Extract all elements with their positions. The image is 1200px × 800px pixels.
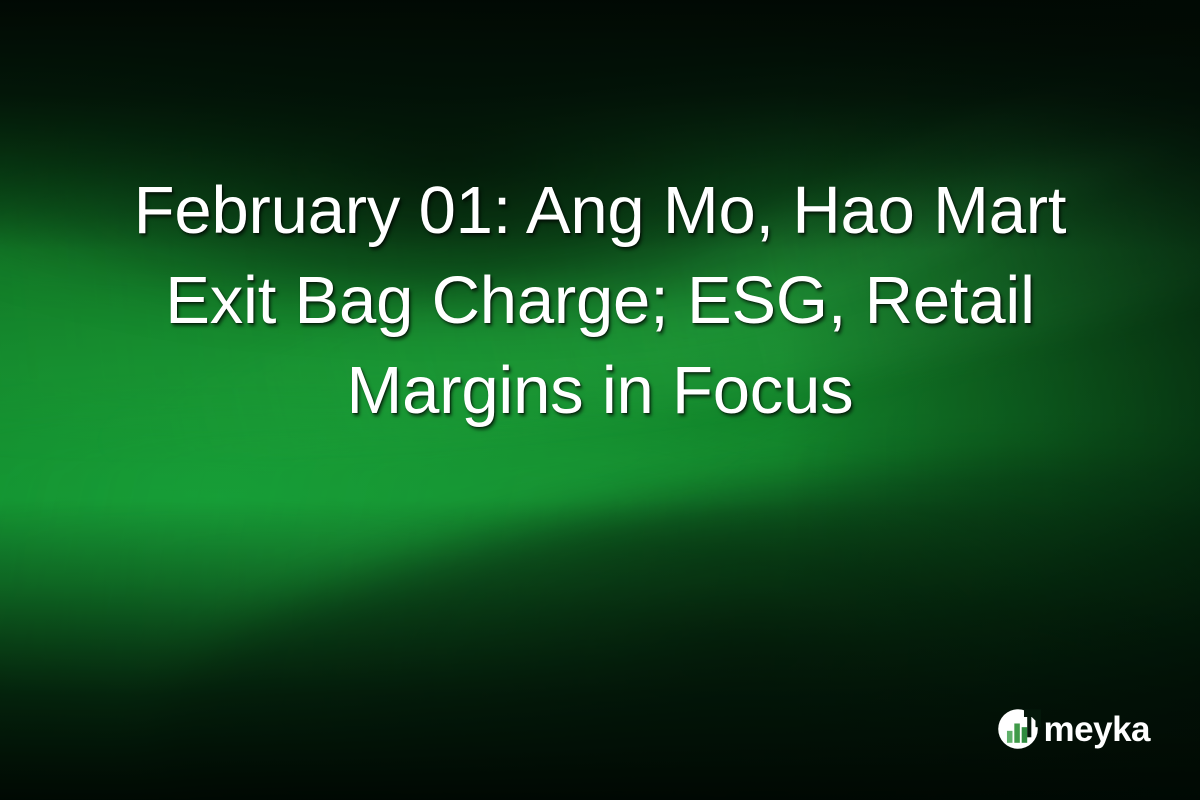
- brand-name: meyka: [1044, 712, 1150, 747]
- news-card: February 01: Ang Mo, Hao Mart Exit Bag C…: [0, 0, 1200, 800]
- headline-container: February 01: Ang Mo, Hao Mart Exit Bag C…: [0, 166, 1200, 436]
- brand-logo: meyka: [995, 706, 1150, 752]
- page-title: February 01: Ang Mo, Hao Mart Exit Bag C…: [100, 166, 1100, 436]
- meyka-bar-chart-circle-icon: [995, 706, 1041, 752]
